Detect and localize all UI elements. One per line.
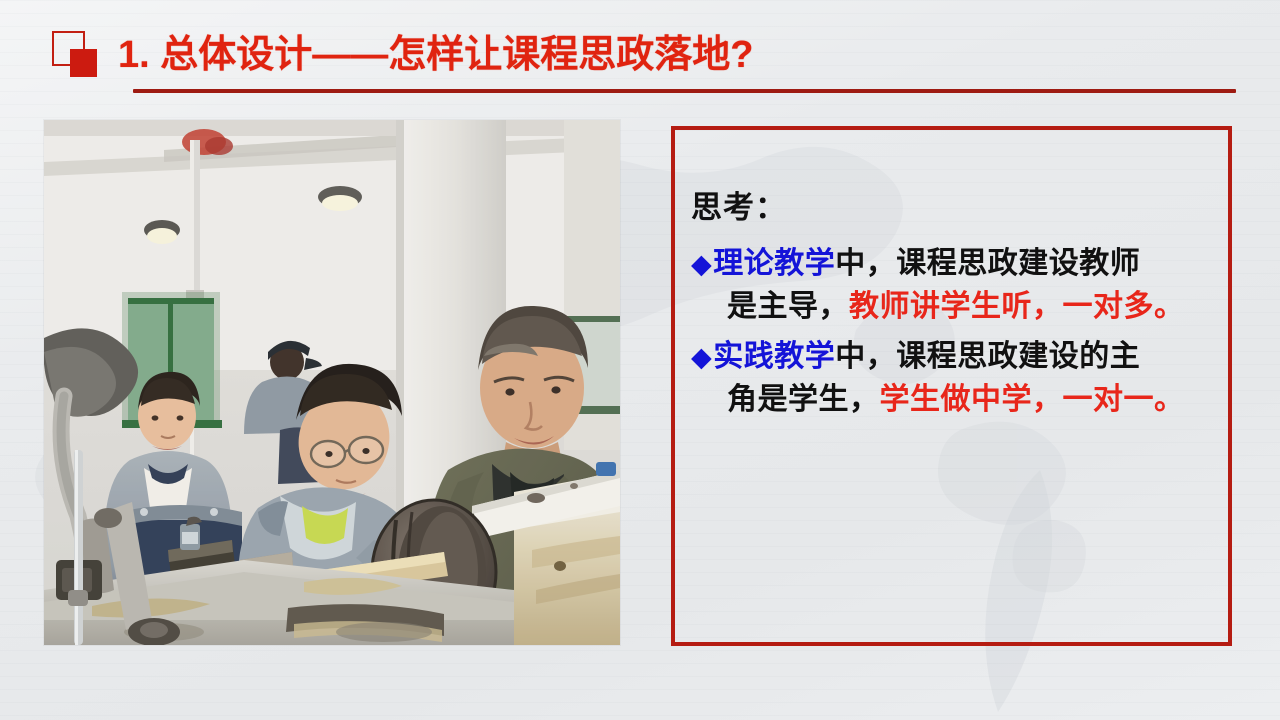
diamond-bullet-icon-2: ◆	[691, 342, 712, 372]
workshop-training-photo	[44, 120, 620, 645]
page-title: 1. 总体设计——怎样让课程思政落地?	[118, 36, 753, 74]
title-divider	[133, 89, 1236, 93]
panel-lead-label: 思考：	[691, 182, 1218, 227]
bullet-1-text-2: 是主导，	[727, 290, 849, 323]
diamond-bullet-icon: ◆	[691, 249, 712, 279]
bullet-1-highlight-red: 教师讲学生听，一对多。	[849, 290, 1185, 323]
slide-root: 1. 总体设计——怎样让课程思政落地?	[0, 0, 1280, 720]
bullet-1-line-1: ◆理论教学中，课程思政建设教师	[691, 243, 1218, 286]
bullet-item-1: ◆理论教学中，课程思政建设教师 是主导，教师讲学生听，一对多。	[691, 243, 1218, 328]
bullet-2-text-1: 中，课程思政建设的主	[835, 340, 1140, 373]
bullet-item-2: ◆实践教学中，课程思政建设的主 角是学生，学生做中学，一对一。	[691, 336, 1218, 421]
bullet-2-line-2: 角是学生，学生做中学，一对一。	[691, 379, 1218, 422]
bullet-1-highlight-blue: 理论教学	[713, 247, 835, 280]
bullet-2-highlight-blue: 实践教学	[713, 340, 835, 373]
two-squares-icon	[50, 29, 104, 81]
thinking-text-panel: 思考： ◆理论教学中，课程思政建设教师 是主导，教师讲学生听，一对多。 ◆实践教…	[671, 126, 1232, 646]
bullet-2-text-2: 角是学生，	[727, 383, 880, 416]
bullet-1-line-2: 是主导，教师讲学生听，一对多。	[691, 286, 1218, 329]
bullet-2-highlight-red: 学生做中学，一对一。	[880, 383, 1185, 416]
slide-title-row: 1. 总体设计——怎样让课程思政落地?	[50, 26, 753, 84]
bullet-1-text-1: 中，课程思政建设教师	[835, 247, 1140, 280]
bullet-2-line-1: ◆实践教学中，课程思政建设的主	[691, 336, 1218, 379]
square-filled-shape	[70, 49, 97, 77]
